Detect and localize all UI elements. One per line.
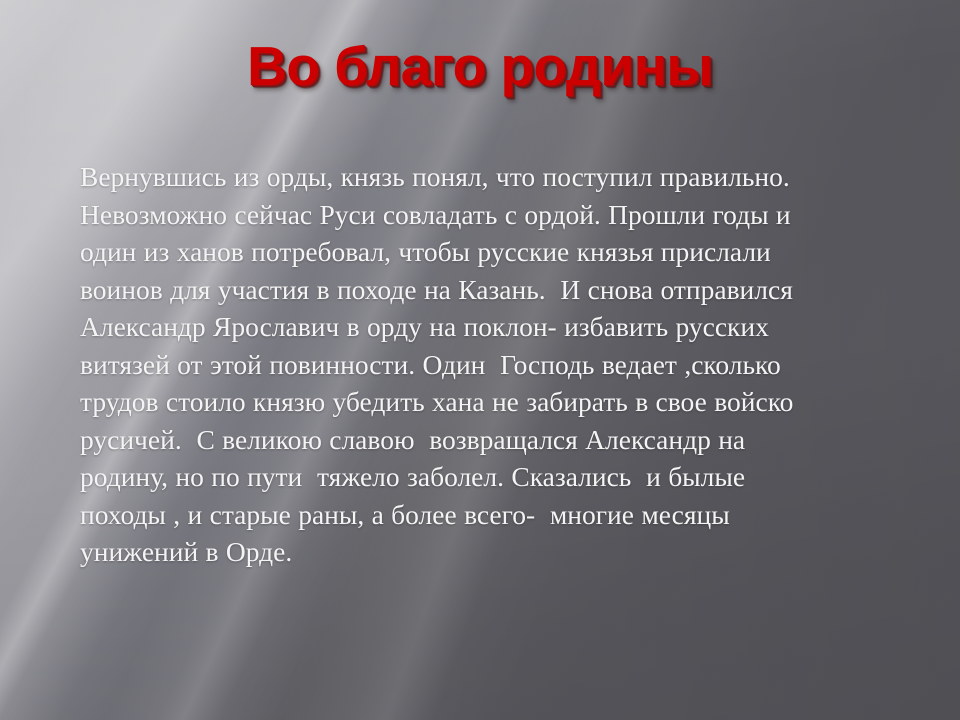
presentation-slide: Во благо родины Вернувшись из орды, княз… bbox=[0, 0, 960, 720]
slide-body-text: Вернувшись из орды, князь понял, что пос… bbox=[80, 158, 926, 571]
slide-title: Во благо родины bbox=[247, 38, 713, 96]
slide-title-block: Во благо родины bbox=[0, 38, 960, 96]
slide-body-block: Вернувшись из орды, князь понял, что пос… bbox=[80, 158, 926, 571]
